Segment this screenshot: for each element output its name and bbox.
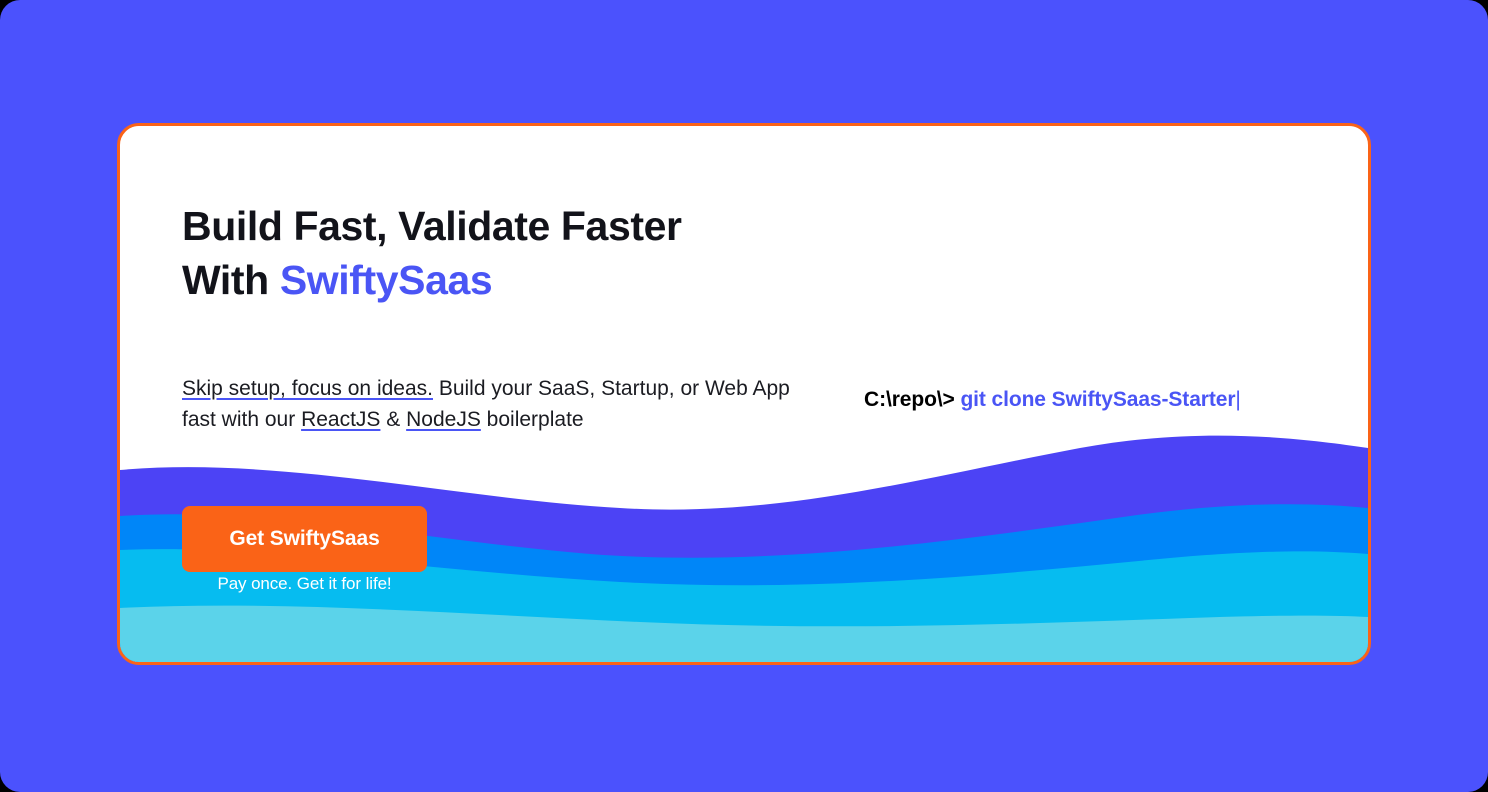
page-title: Build Fast, Validate FasterWith SwiftySa… — [182, 199, 682, 307]
subcopy-text-3: boilerplate — [481, 408, 584, 431]
brand-name: SwiftySaas — [280, 257, 493, 303]
subcopy-link-nodejs[interactable]: NodeJS — [406, 408, 481, 431]
subcopy-text-2: & — [380, 408, 406, 431]
subcopy-link-skip-setup[interactable]: Skip setup, focus on ideas. — [182, 377, 433, 400]
headline-line-2-prefix: With — [182, 257, 280, 303]
hero-card: Build Fast, Validate FasterWith SwiftySa… — [117, 123, 1371, 665]
headline-line-1: Build Fast, Validate Faster — [182, 203, 682, 249]
terminal-command-line: C:\repo\> git clone SwiftySaas-Starter| — [864, 386, 1241, 414]
terminal-command-text: git clone SwiftySaas-Starter — [960, 388, 1235, 411]
terminal-prompt: C:\repo\> — [864, 388, 955, 411]
terminal-cursor: | — [1235, 388, 1240, 411]
cta-note: Pay once. Get it for life! — [182, 574, 427, 594]
page-canvas: Build Fast, Validate FasterWith SwiftySa… — [0, 0, 1488, 792]
get-swiftysaas-button[interactable]: Get SwiftySaas — [182, 506, 427, 572]
hero-subcopy: Skip setup, focus on ideas. Build your S… — [182, 373, 802, 435]
hero-content: Build Fast, Validate FasterWith SwiftySa… — [120, 126, 1368, 662]
subcopy-link-reactjs[interactable]: ReactJS — [301, 408, 380, 431]
